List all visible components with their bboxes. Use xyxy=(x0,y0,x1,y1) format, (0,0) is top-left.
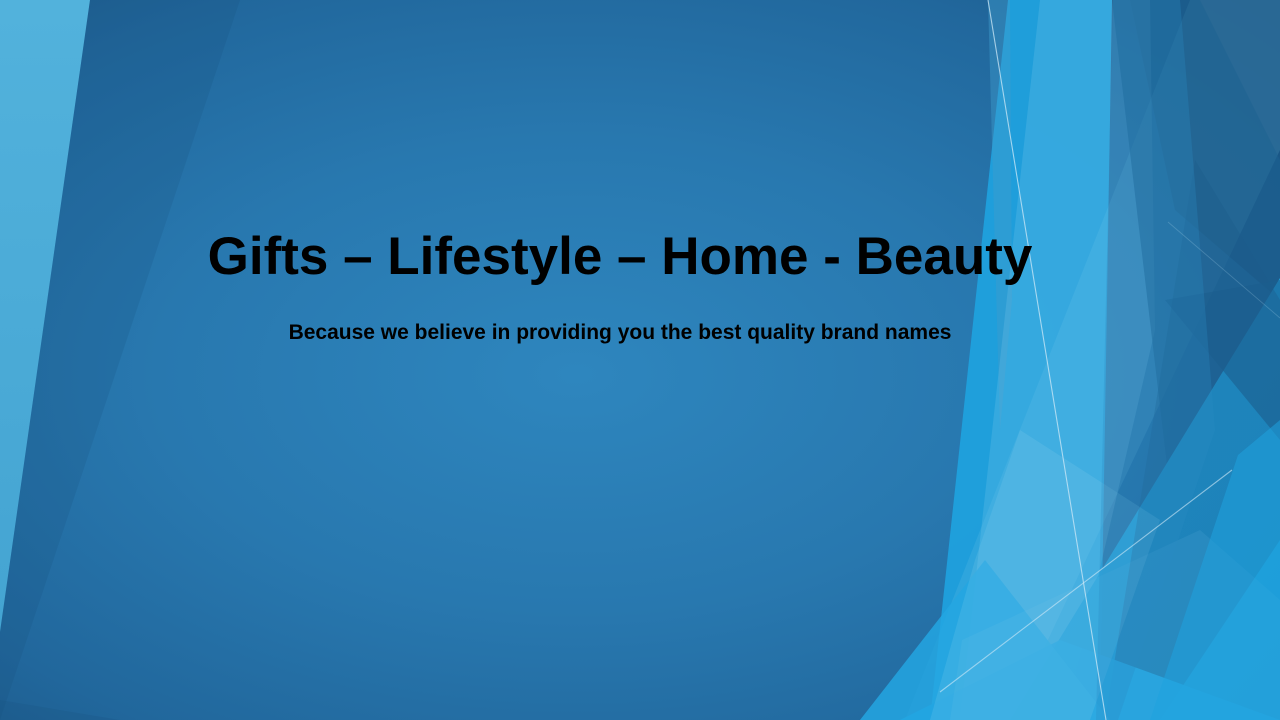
page-title: Gifts – Lifestyle – Home - Beauty xyxy=(150,228,1090,285)
presentation-slide: Gifts – Lifestyle – Home - Beauty Becaus… xyxy=(0,0,1280,720)
page-subtitle: Because we believe in providing you the … xyxy=(150,320,1090,345)
slide-text-layer: Gifts – Lifestyle – Home - Beauty Becaus… xyxy=(0,0,1280,720)
title-placeholder[interactable]: Gifts – Lifestyle – Home - Beauty xyxy=(150,228,1090,285)
subtitle-placeholder[interactable]: Because we believe in providing you the … xyxy=(150,320,1090,345)
